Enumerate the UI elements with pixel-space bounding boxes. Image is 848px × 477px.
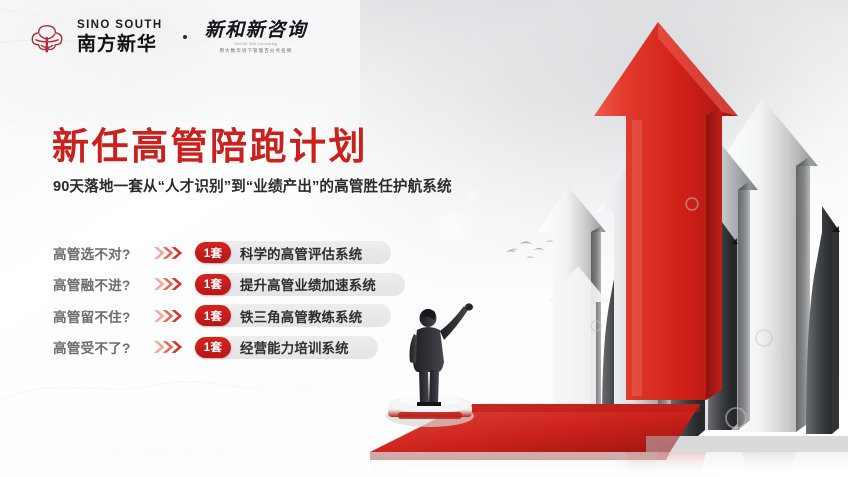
partner-logo[interactable]: 新和新咨询 XIN HE XIN Consulting 用大数华语下管理百分点名… (205, 21, 308, 54)
quantity-badge: 1套 (195, 242, 231, 263)
tree-logo-icon (26, 16, 68, 58)
benefit-question: 高管选不对? (53, 243, 153, 263)
silver-arrow-far-left (538, 186, 606, 420)
partner-tagline: 用大数华语下管理百分点名牌 (219, 49, 292, 54)
businessman-silhouette (410, 303, 474, 406)
benefit-question: 高管留不住? (53, 306, 153, 326)
quantity-badge: 1套 (195, 305, 231, 326)
bubble-rings (591, 198, 793, 428)
silver-arrow-right-tall (718, 98, 818, 432)
page-subtitle: 90天落地一套从“人才识别”到“业绩产出”的高管胜任护航系统 (53, 175, 452, 196)
brand-en-label: SINO SOUTH (77, 20, 163, 32)
quantity-badge: 1套 (195, 274, 231, 295)
silver-arrow-right-mid (668, 128, 758, 430)
floor-slab (370, 436, 848, 477)
page-title: 新任高管陪跑计划 (52, 128, 368, 165)
poster-canvas: SINO SOUTH 南方新华 新和新咨询 XIN HE XIN Consult… (0, 0, 848, 477)
benefit-answer-group: 1套 科学的高管评估系统 (195, 241, 378, 264)
podium-platform (386, 394, 474, 427)
triple-chevron-right-icon (153, 308, 186, 324)
reflections (614, 452, 796, 477)
partner-name-en: XIN HE XIN Consulting (234, 43, 277, 46)
benefit-answer-group: 1套 经营能力培训系统 (195, 336, 365, 359)
benefit-answer: 提升高管业绩加速系统 (240, 274, 392, 294)
silver-arrow-mid-left (596, 160, 676, 428)
triple-chevron-right-icon (153, 276, 186, 292)
triple-chevron-right-icon (153, 245, 186, 261)
dark-arrow-right-b (806, 206, 840, 434)
benefit-answer: 科学的高管评估系统 (240, 243, 378, 263)
program-watermark: NEW EXECUTIVE ACCOMPANIMENT PROGRAM (601, 11, 826, 20)
benefit-answer: 铁三角高管教练系统 (240, 306, 378, 326)
triple-chevron-right-icon (153, 339, 186, 355)
brand-logo[interactable]: SINO SOUTH 南方新华 新和新咨询 XIN HE XIN Consult… (26, 16, 307, 58)
red-upward-arrow (594, 22, 738, 400)
benefit-answer-group: 1套 提升高管业绩加速系统 (195, 273, 392, 296)
benefit-question: 高管受不了? (53, 337, 153, 357)
logo-separator-dot (183, 35, 187, 39)
benefit-row[interactable]: 高管留不住? 1套 铁三角高管教练系统 (53, 304, 392, 327)
benefit-answer: 经营能力培训系统 (240, 337, 365, 357)
flying-birds (506, 241, 554, 259)
dark-arrow-left (602, 246, 633, 424)
benefit-row[interactable]: 高管选不对? 1套 科学的高管评估系统 (53, 241, 392, 264)
benefit-row[interactable]: 高管受不了? 1套 经营能力培训系统 (53, 336, 392, 359)
red-platform (370, 404, 700, 460)
quantity-badge: 1套 (195, 337, 231, 358)
benefit-row[interactable]: 高管融不进? 1套 提升高管业绩加速系统 (53, 273, 392, 296)
brand-text: SINO SOUTH 南方新华 (77, 20, 163, 54)
benefit-question: 高管融不进? (53, 274, 153, 294)
brand-cn-label: 南方新华 (77, 35, 163, 54)
benefit-list: 高管选不对? 1套 科学的高管评估系统 高管融不进? 1套 (53, 241, 392, 367)
dark-arrow-right-a (708, 222, 738, 430)
partner-name-cn: 新和新咨询 (205, 21, 308, 40)
dark-arrow-center-right (670, 254, 706, 436)
benefit-answer-group: 1套 铁三角高管教练系统 (195, 304, 378, 327)
silver-arrow-small-front (548, 266, 608, 424)
header-bar: SINO SOUTH 南方新华 新和新咨询 XIN HE XIN Consult… (0, 0, 848, 72)
